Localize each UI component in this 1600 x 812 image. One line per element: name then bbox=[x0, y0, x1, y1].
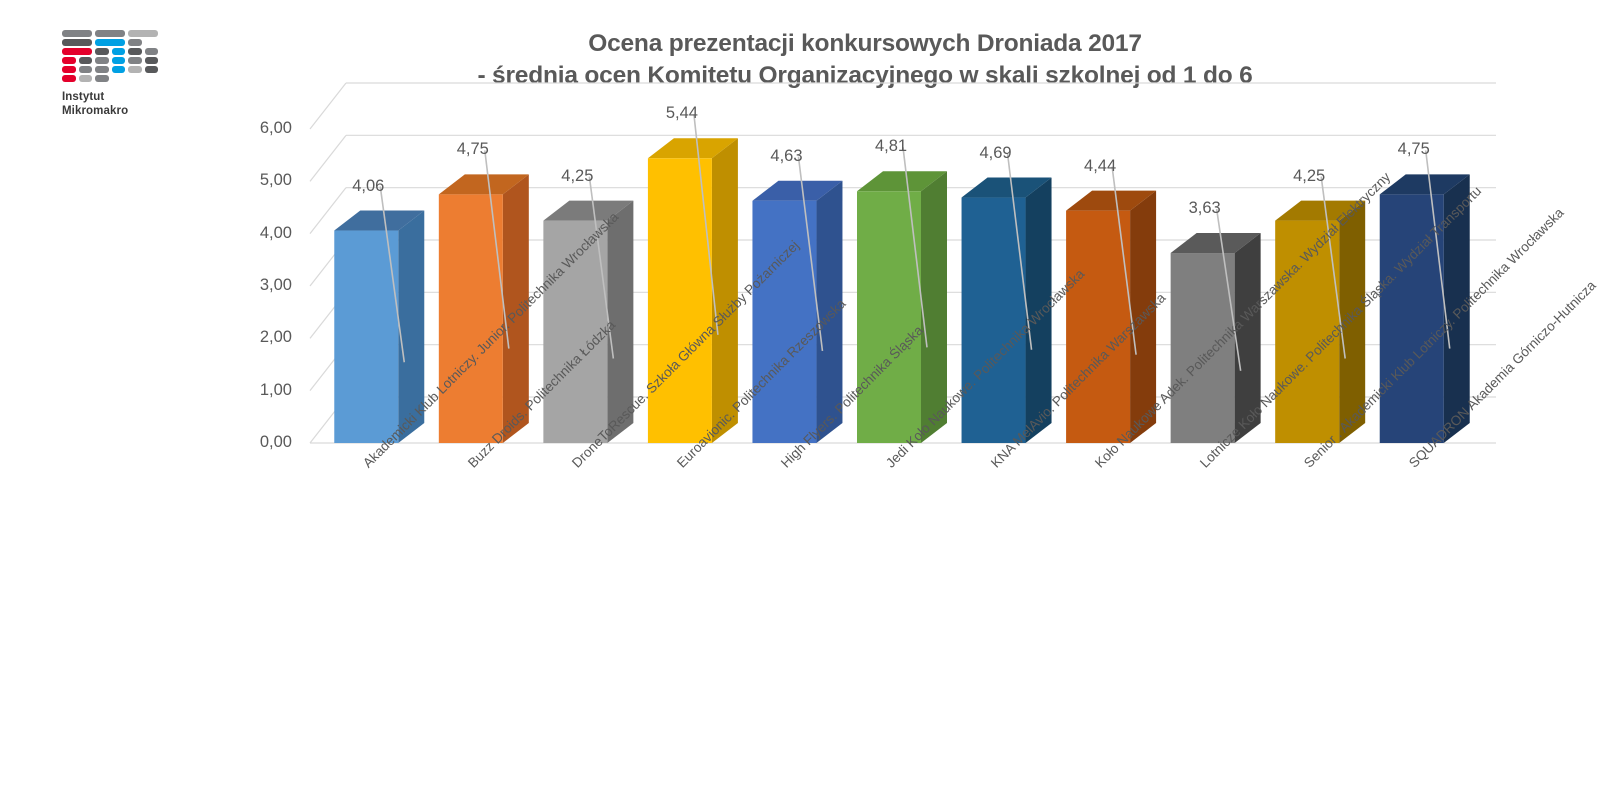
data-label: 4,25 bbox=[1293, 167, 1325, 186]
bar bbox=[648, 138, 738, 443]
data-label: 4,63 bbox=[770, 147, 802, 166]
data-label: 4,06 bbox=[352, 177, 384, 196]
y-axis-tick-label: 2,00 bbox=[222, 328, 292, 347]
y-axis-tick-label: 4,00 bbox=[222, 224, 292, 243]
bar-front-face bbox=[648, 158, 712, 443]
gridline-depth bbox=[310, 135, 346, 181]
bar-front-face bbox=[752, 201, 816, 443]
y-axis-tick-label: 1,00 bbox=[222, 381, 292, 400]
data-label: 4,25 bbox=[561, 167, 593, 186]
data-label: 4,69 bbox=[979, 144, 1011, 163]
data-label: 4,44 bbox=[1084, 157, 1116, 176]
chart-3d-column: Instytut Mikromakro Ocena prezentacji ko… bbox=[0, 0, 1600, 812]
y-axis-tick-label: 3,00 bbox=[222, 276, 292, 295]
bar-side-face bbox=[712, 138, 738, 443]
data-label: 5,44 bbox=[666, 104, 698, 123]
gridline-depth bbox=[310, 83, 346, 129]
data-label: 4,81 bbox=[875, 137, 907, 156]
y-axis-tick-label: 6,00 bbox=[222, 119, 292, 138]
plot-area: 4,064,754,255,444,634,814,694,443,634,25… bbox=[0, 0, 1600, 812]
bar-front-face bbox=[439, 194, 503, 443]
y-axis-tick-label: 5,00 bbox=[222, 171, 292, 190]
data-label: 4,75 bbox=[1398, 140, 1430, 159]
data-label: 3,63 bbox=[1189, 199, 1221, 218]
data-label: 4,75 bbox=[457, 140, 489, 159]
bar-front-face bbox=[334, 231, 398, 443]
y-axis-tick-label: 0,00 bbox=[222, 433, 292, 452]
bar-front-face bbox=[962, 198, 1026, 443]
bar-front-face bbox=[857, 191, 921, 443]
bar bbox=[857, 171, 947, 443]
